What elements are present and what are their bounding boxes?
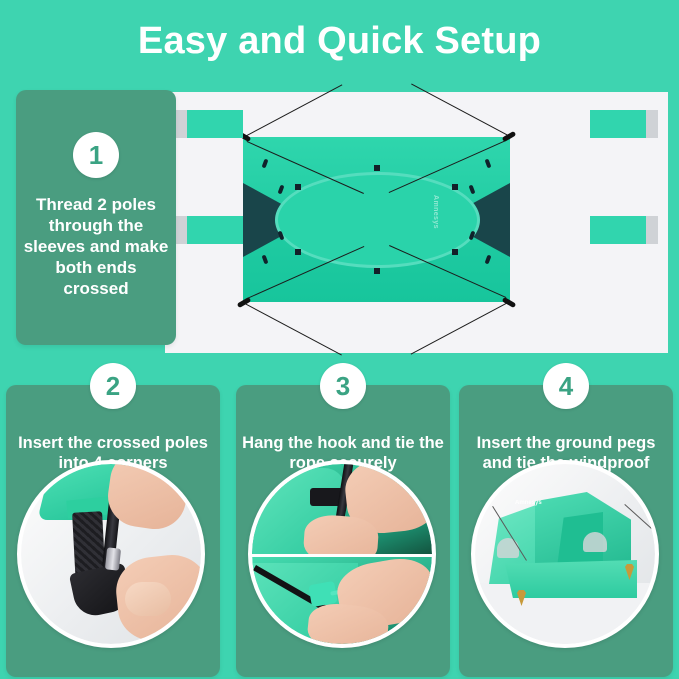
thumb xyxy=(125,582,171,616)
clip-5 xyxy=(485,159,492,169)
pole-tip-bottom-right xyxy=(502,297,517,308)
stud-left-top xyxy=(295,184,301,190)
step-3-photo xyxy=(248,460,436,648)
step-1-caption: Thread 2 poles through the sleeves and m… xyxy=(22,194,170,299)
step-4-photo: Amnesys xyxy=(471,460,659,648)
step-1-panel: 1 Thread 2 poles through the sleeves and… xyxy=(16,90,176,345)
tent-opening-oval xyxy=(275,172,480,268)
pole-ferrule xyxy=(105,547,121,570)
clip-7 xyxy=(485,255,492,265)
tent-brand-logo: Amnesys xyxy=(515,500,542,506)
step-3-badge: 3 xyxy=(320,363,366,409)
infographic-page: Easy and Quick Setup xyxy=(0,0,679,679)
tent-flat-diagram: Amnesys xyxy=(165,92,668,353)
tent-wing-bottom-left xyxy=(185,216,243,244)
step-2-photo xyxy=(17,460,205,648)
step-2-badge: 2 xyxy=(90,363,136,409)
clip-3 xyxy=(262,255,269,265)
pole-line-top-left xyxy=(243,84,342,137)
tent-window-right xyxy=(583,532,607,552)
clip-2 xyxy=(278,185,285,195)
tent-canopy: Amnesys xyxy=(243,137,510,302)
stud-left-bottom xyxy=(295,249,301,255)
stud-right-top xyxy=(452,184,458,190)
step-1-section: Amnesys 1 Thread 2 poles through the sle… xyxy=(16,90,668,355)
clip-6 xyxy=(469,185,476,195)
page-title: Easy and Quick Setup xyxy=(0,18,679,64)
stud-top xyxy=(374,165,380,171)
stud-right-bottom xyxy=(452,249,458,255)
tent-window-left xyxy=(497,538,519,558)
brand-logo: Amnesys xyxy=(432,195,439,229)
tent-wing-top-left xyxy=(185,110,243,138)
step-4-badge: 4 xyxy=(543,363,589,409)
step-3-photo-bottom xyxy=(252,554,432,644)
clip-1 xyxy=(262,159,269,169)
stud-bottom xyxy=(374,268,380,274)
step-3-photo-top xyxy=(252,464,432,554)
step-1-badge: 1 xyxy=(73,132,119,178)
pole-line-bottom-right xyxy=(411,301,510,354)
pole-line-bottom-left xyxy=(243,302,342,355)
tent-wing-bottom-right xyxy=(590,216,648,244)
pole-line-top-right xyxy=(411,84,510,137)
tent-wing-top-right xyxy=(590,110,648,138)
